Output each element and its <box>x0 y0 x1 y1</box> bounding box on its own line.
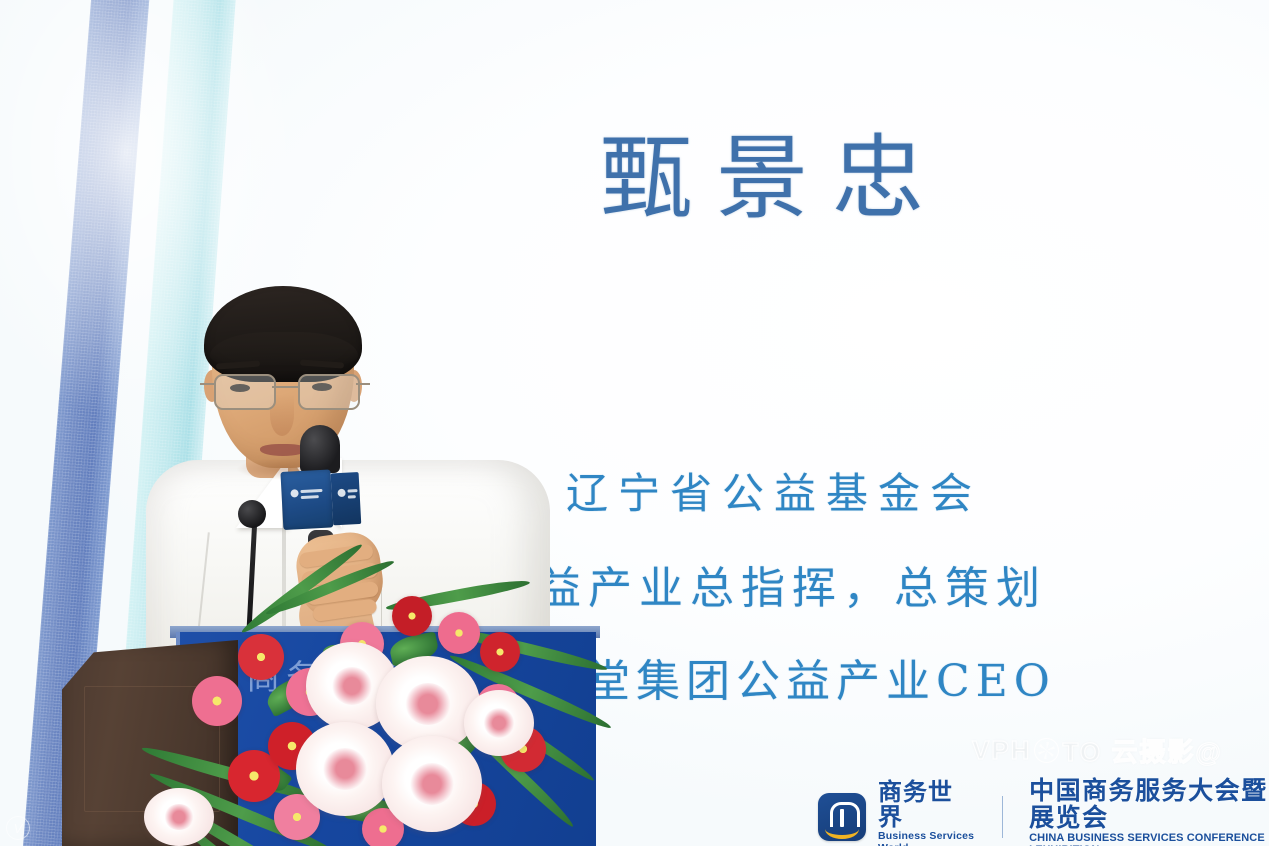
slide-photo-stage: 甄景忠 辽宁省公益基金会 公益产业总指挥，总策划 百草堂集团公益产业CEO <box>0 0 1269 846</box>
brand-name-cn: 商务世界 <box>878 780 976 830</box>
swoosh-icon <box>825 819 859 839</box>
vphoto-watermark: VPH TO 云摄影@ <box>972 732 1223 769</box>
page-title: 甄景忠 <box>600 104 948 237</box>
gerbera-flower <box>480 632 520 672</box>
camera-aperture-icon <box>1034 738 1059 763</box>
corner-watermark: V <box>6 816 30 840</box>
brand-name-en: Business Services World <box>878 830 976 846</box>
lily-flower <box>382 736 482 832</box>
gerbera-flower <box>192 676 242 726</box>
gerbera-flower <box>392 596 432 636</box>
brand-bar: 商务世界 Business Services World 中国商务服务大会暨展览… <box>818 778 1269 846</box>
event-name-cn: 中国商务服务大会暨展览会 <box>1029 778 1269 832</box>
brand-divider <box>1002 796 1003 838</box>
flower-arrangement <box>146 586 616 846</box>
vphoto-watermark-text-left: VPH <box>972 735 1031 766</box>
event-name-en: CHINA BUSINESS SERVICES CONFERENCE I EXH… <box>1029 832 1269 846</box>
vphoto-watermark-text-right: TO 云摄影@ <box>1062 732 1222 769</box>
lily-flower <box>296 722 394 816</box>
business-services-world-logo-icon <box>818 793 866 841</box>
lily-flower <box>464 690 534 756</box>
lily-flower <box>144 788 214 846</box>
brand-text-block: 商务世界 Business Services World <box>878 780 976 846</box>
event-text-block: 中国商务服务大会暨展览会 CHINA BUSINESS SERVICES CON… <box>1029 778 1269 846</box>
credential-line-1: 辽宁省公益基金会 <box>566 460 982 521</box>
gerbera-flower <box>238 634 284 680</box>
gerbera-flower <box>438 612 480 654</box>
